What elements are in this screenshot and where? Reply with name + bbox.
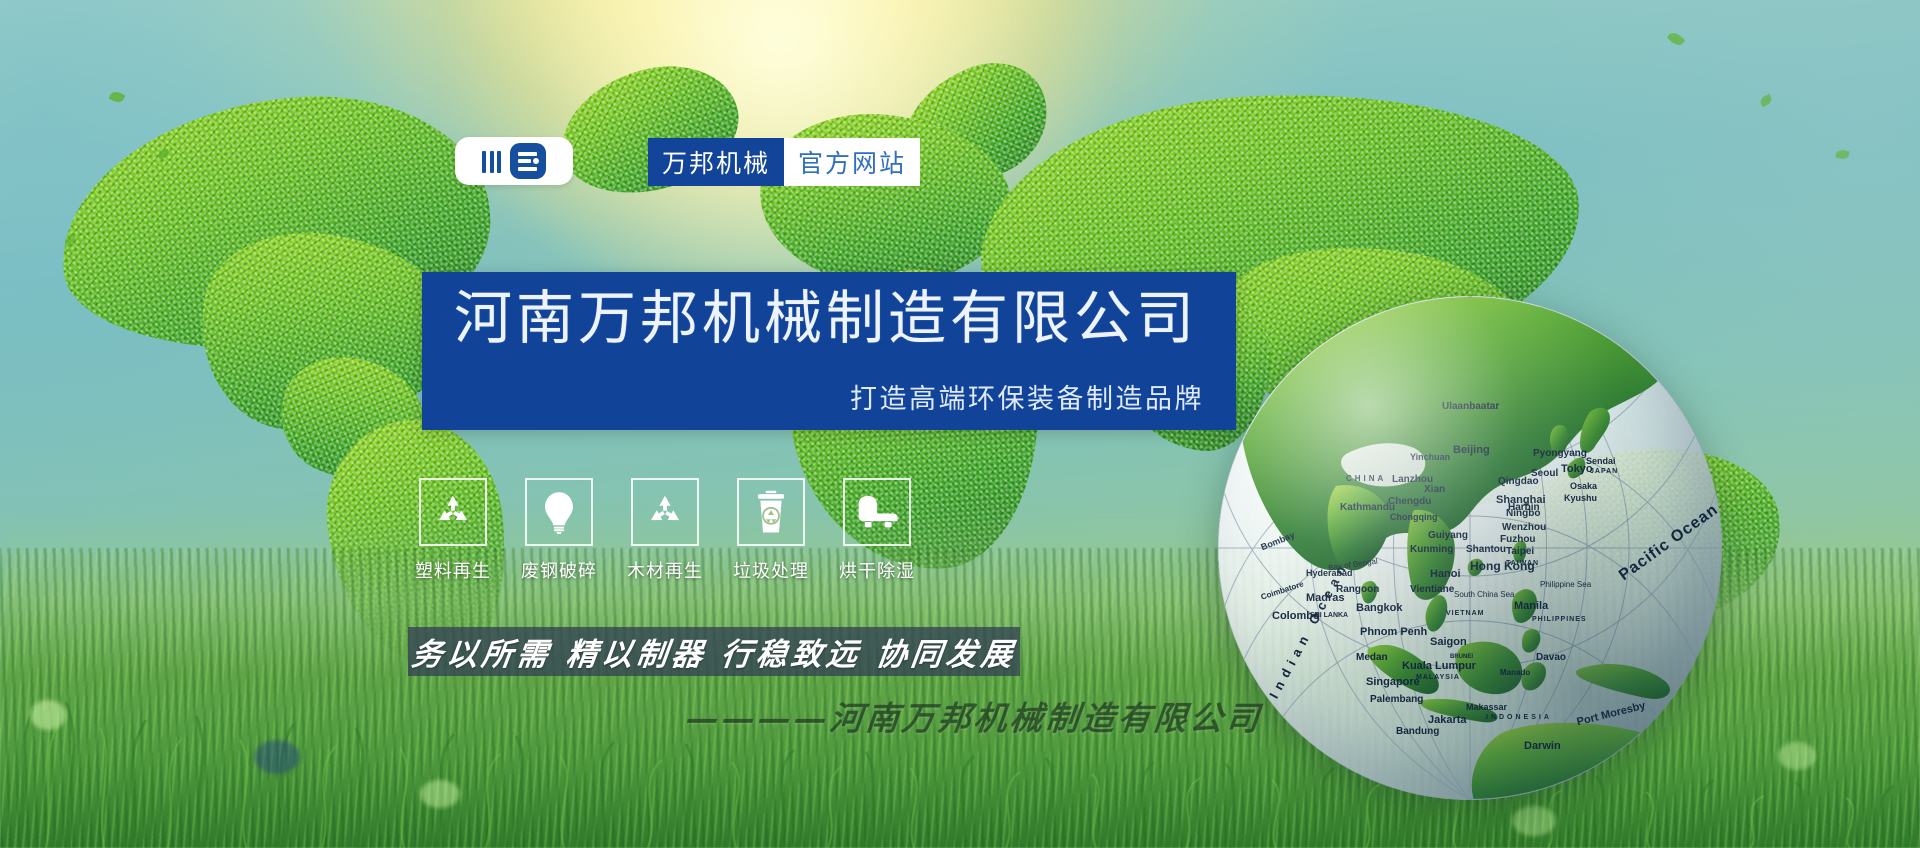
service-label: 木材再生	[627, 557, 703, 583]
service-icon-row[interactable]: 塑料再生 废钢破碎	[418, 478, 912, 583]
service-item-plastic-recycling[interactable]: 塑料再生	[418, 478, 488, 583]
globe-terminator-shadow	[1218, 296, 1722, 800]
service-icon-box[interactable]	[737, 478, 805, 546]
bokeh-highlight	[1512, 806, 1556, 836]
brand-tab-official-site[interactable]: 官方网站	[784, 138, 920, 186]
service-icon-box[interactable]	[525, 478, 593, 546]
service-icon-box[interactable]	[843, 478, 911, 546]
hero-banner: Pacific Ocean Indian Ocean Hong Kong Bei…	[0, 0, 1920, 848]
tagline-signature: ————河南万邦机械制造有限公司	[683, 692, 1264, 740]
bokeh-highlight	[420, 780, 460, 808]
recycle-icon	[645, 492, 685, 532]
tagline-text: 务以所需 精以制器 行稳致远 协同发展	[409, 629, 1019, 674]
logo-b-mark-icon	[510, 143, 546, 179]
service-item-scrap-steel-crushing[interactable]: 废钢破碎	[524, 478, 594, 583]
company-logo-badge[interactable]	[455, 137, 573, 185]
trash-bin-recycle-icon	[754, 490, 788, 534]
calligraphy-tagline-bar: 务以所需 精以制器 行稳致远 协同发展	[408, 627, 1020, 676]
service-item-waste-treatment[interactable]: 垃圾处理	[736, 478, 806, 583]
recycle-icon	[433, 492, 473, 532]
bokeh-highlight	[1778, 742, 1816, 770]
bokeh-highlight	[30, 700, 66, 730]
service-item-wood-recycling[interactable]: 木材再生	[630, 478, 700, 583]
company-name: 河南万邦机械制造有限公司	[454, 286, 1198, 351]
service-icon-box[interactable]	[419, 478, 487, 546]
company-slogan: 打造高端环保装备制造品牌	[850, 377, 1204, 416]
service-item-drying-dehumidifying[interactable]: 烘干除湿	[842, 478, 912, 583]
logo-w-mark-icon	[482, 150, 501, 173]
service-icon-box[interactable]	[631, 478, 699, 546]
brand-tab-group[interactable]: 万邦机械 官方网站	[648, 138, 920, 186]
service-label: 塑料再生	[415, 557, 491, 583]
earth-globe: Pacific Ocean Indian Ocean Hong Kong Bei…	[1218, 296, 1722, 800]
bokeh-highlight	[254, 740, 300, 774]
service-label: 垃圾处理	[733, 557, 809, 583]
brand-tab-company[interactable]: 万邦机械	[648, 138, 784, 186]
service-label: 烘干除湿	[839, 557, 915, 583]
service-label: 废钢破碎	[521, 557, 597, 583]
dryer-machine-icon	[854, 495, 900, 529]
company-title-panel: 河南万邦机械制造有限公司 打造高端环保装备制造品牌	[422, 272, 1236, 430]
lightbulb-icon	[540, 490, 578, 534]
